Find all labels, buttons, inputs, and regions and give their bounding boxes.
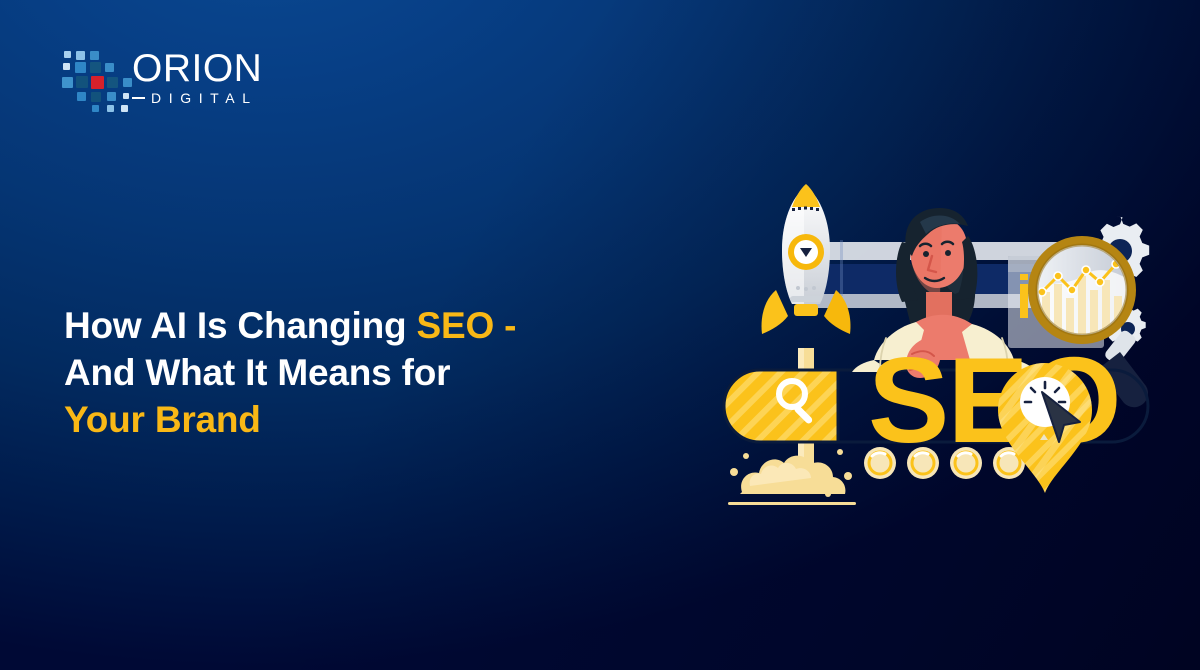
magnifier-chart-icon: [1028, 236, 1136, 344]
orion-digital-logo[interactable]: ORION DIGITAL: [62, 50, 262, 105]
logo-secondary-text: DIGITAL: [151, 91, 258, 105]
logo-tile-11: [123, 78, 132, 87]
logo-tile-3: [63, 63, 70, 70]
page-title: How AI Is Changing SEO - And What It Mea…: [64, 302, 624, 443]
seo-blog-banner: ORION DIGITAL How AI Is Changing SEO - A…: [0, 0, 1200, 670]
logo-rule: [132, 97, 145, 99]
logo-tile-2: [90, 51, 99, 60]
logo-tile-18: [121, 105, 128, 112]
logo-tile-7: [62, 77, 73, 88]
rocket-smoke: [728, 449, 856, 505]
logo-tile-12: [77, 92, 86, 101]
headline-line1-white: How AI Is Changing: [64, 305, 417, 346]
logo-tile-8: [76, 76, 88, 88]
logo-primary-text: ORION: [132, 50, 262, 88]
headline-line3-accent: Your Brand: [64, 399, 261, 440]
search-button-icon: [724, 370, 838, 442]
logo-tile-14: [107, 92, 116, 101]
logo-tile-17: [107, 105, 114, 112]
rocket-icon: [762, 184, 851, 490]
logo-secondary-row: DIGITAL: [132, 91, 262, 105]
logo-tile-16: [92, 105, 99, 112]
pixel-grid-icon: [62, 51, 120, 105]
headline-line2-white: And What It Means for: [64, 352, 450, 393]
logo-tile-6: [105, 63, 114, 72]
logo-tile-9: [91, 76, 104, 89]
headline-line1-accent: SEO -: [417, 305, 517, 346]
logo-tile-15: [123, 93, 129, 99]
logo-tile-13: [91, 92, 101, 102]
logo-wordmark: ORION DIGITAL: [132, 50, 262, 105]
seo-hero-illustration: SEO: [720, 180, 1160, 520]
logo-tile-5: [90, 62, 101, 73]
logo-tile-1: [76, 51, 85, 60]
logo-tile-0: [64, 51, 71, 58]
logo-tile-10: [107, 77, 118, 88]
logo-tile-4: [75, 62, 86, 73]
